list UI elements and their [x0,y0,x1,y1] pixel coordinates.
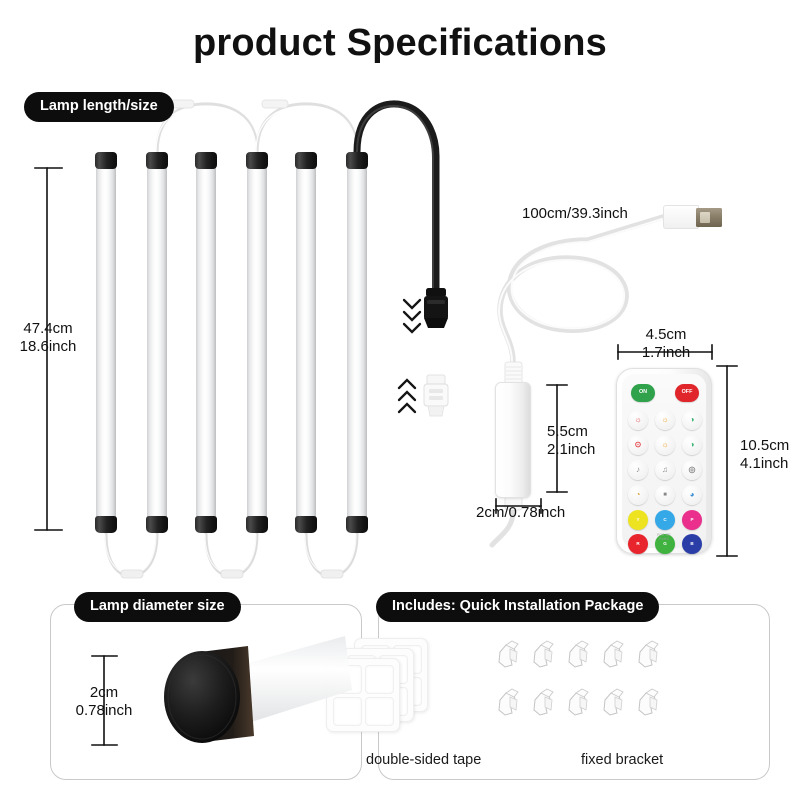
remote-power-on-button[interactable]: ON [631,384,655,402]
timer-icon: ◎ [689,466,696,474]
fixed-bracket [604,689,623,715]
white-connector-male [424,375,448,416]
usb-plug-contact [696,208,722,227]
lamp-end-cap [95,152,117,169]
fixed-bracket [534,689,553,715]
remote-width-dimension: 4.5cm 1.7inch [620,326,712,363]
cable-ferrule [505,362,522,384]
lamp-end-cap [295,516,317,533]
remote-brightness-down-button[interactable]: ⊙ [628,435,648,455]
sun-icon: ☼ [661,416,668,424]
remote-certification-marks: FCC CE RoHS [622,533,706,542]
usb-a-plug [663,202,723,232]
fixed-bracket [604,641,623,667]
controller-height-dimension: 5.5cm 2.1inch [547,423,595,460]
gauge-icon: ◕ [690,491,695,499]
fixed-bracket [569,689,588,715]
lamp-cap-face [164,651,240,743]
lamp-end-cap [295,152,317,169]
lamp-end-cap [246,516,268,533]
remote-color-label: G [663,542,667,547]
black-connector-female [424,288,448,328]
top-link-cable [157,104,357,152]
flash-icon: ♪ [636,466,640,474]
remote-power-off-button[interactable]: OFF [675,384,699,402]
controller-width-dimension: 2cm/0.78inch [476,504,565,522]
fixed-bracket [499,689,518,715]
fixed-bracket [569,641,588,667]
bottom-link-cable-highlight [105,534,356,574]
lamp-end-cap [195,516,217,533]
remote-color-label: B [690,542,693,547]
lamp-end-cap [146,516,168,533]
remote-cool-down-button[interactable]: ◑ [682,435,702,455]
remote-off-label: OFF [682,390,693,395]
lamp-length-dimension: 47.4cm 18.6inch [6,320,90,357]
remote-color-label: C [663,518,666,523]
remote-warm-down-button[interactable]: ☼ [655,435,675,455]
sun-icon: ☼ [634,416,641,424]
product-spec-infographic: product Specifications ON OFF ☼ ☼ [0,0,800,800]
top-link-cable-highlight [156,106,356,152]
fixed-bracket-group [496,638,676,738]
lamp-end-cap [195,152,217,169]
remote-height-dimension: 10.5cm 4.1inch [740,437,789,474]
lamp-end-cap [346,152,368,169]
black-power-lead-highlight [357,106,433,290]
remote-cool-up-button[interactable]: ◑ [682,410,702,430]
remote-color-label: P [690,518,693,523]
fixed-bracket [534,641,553,667]
remote-warm-up-button[interactable]: ☼ [655,410,675,430]
sun-icon: ☼ [661,441,668,449]
music-icon: ♫ [662,466,668,474]
black-power-lead [357,104,436,290]
lamp-diameter-dimension: 2cm 0.78inch [62,684,146,721]
remote-brightness-up-button[interactable]: ☼ [628,410,648,430]
remote-mode-timer-button[interactable]: ◎ [682,460,702,480]
lamp-end-closeup [130,628,360,773]
lamp-end-cap [346,516,368,533]
usb-plug-body [663,205,699,229]
pause-icon: ■ [663,492,667,498]
remote-color-magenta-button[interactable]: P [682,510,702,530]
fixed-bracket [639,641,658,667]
badge-lamp-diameter: Lamp diameter size [74,592,241,622]
controller-box [495,382,531,498]
cable-coupler [262,100,288,108]
chevron-down-icon [404,300,420,332]
cable-length-dimension: 100cm/39.3inch [522,205,628,223]
remote-speed-up-button[interactable]: ◕ [682,485,702,505]
remote-control[interactable]: ON OFF ☼ ☼ ◑ ⊙ ☼ ◑ ♪ ♫ ◎ ◔ ■ ◕ Y C P R G… [616,368,712,554]
remote-color-label: Y [636,518,639,523]
remote-color-label: R [636,542,639,547]
remote-mode-flash-button[interactable]: ♪ [628,460,648,480]
remote-color-cyan-button[interactable]: C [655,510,675,530]
cable-coupler [221,570,243,578]
lamp-end-cap [246,152,268,169]
circle-dot-icon: ⊙ [635,441,642,449]
fixed-bracket [639,689,658,715]
remote-mode-music-button[interactable]: ♫ [655,460,675,480]
cable-coupler [321,570,343,578]
badge-includes: Includes: Quick Installation Package [376,592,659,622]
badge-lamp-length: Lamp length/size [24,92,174,122]
remote-on-label: ON [639,390,647,395]
lamp-end-cap [146,152,168,169]
chevron-up-icon [399,380,415,412]
remote-face: ON OFF ☼ ☼ ◑ ⊙ ☼ ◑ ♪ ♫ ◎ ◔ ■ ◕ Y C P R G… [622,374,706,548]
half-circle-icon: ◑ [690,441,695,449]
lamp-end-cap [95,516,117,533]
gauge-icon: ◔ [636,491,641,499]
remote-pause-button[interactable]: ■ [655,485,675,505]
fixed-bracket [499,641,518,667]
remote-color-yellow-button[interactable]: Y [628,510,648,530]
remote-speed-down-button[interactable]: ◔ [628,485,648,505]
half-circle-icon: ◑ [690,416,695,424]
cable-coupler [121,570,143,578]
